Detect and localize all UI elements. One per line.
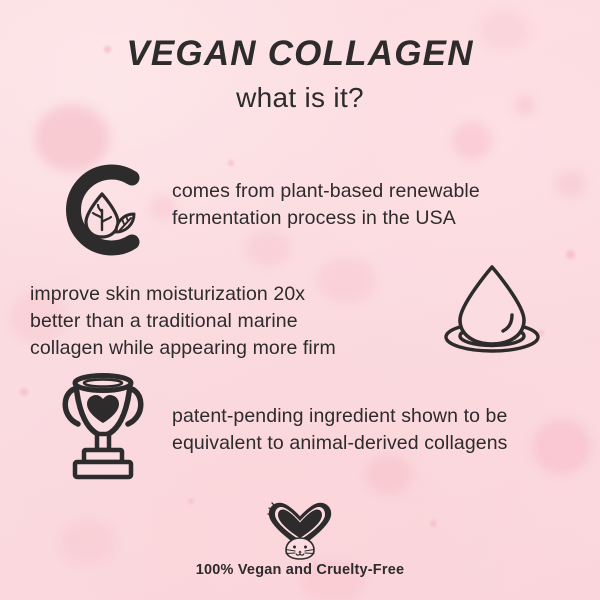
- feature-line: comes from plant-based renewable: [172, 178, 480, 205]
- water-droplet-ripple-icon: [440, 262, 544, 356]
- feature-row-1-text: comes from plant-based renewable ferment…: [172, 178, 480, 232]
- collagen-c-droplet-leaf-icon: [58, 162, 150, 258]
- feature-row-3-text: patent-pending ingredient shown to be eq…: [172, 403, 508, 457]
- trophy-heart-icon: [56, 372, 150, 484]
- page-title: VEGAN COLLAGEN: [0, 34, 600, 74]
- feature-line: collagen while appearing more firm: [30, 335, 336, 362]
- feature-line: improve skin moisturization 20x: [30, 281, 336, 308]
- cruelty-free-bunny-heart-icon: [262, 502, 338, 560]
- feature-line: fermentation process in the USA: [172, 205, 480, 232]
- infographic-canvas: VEGAN COLLAGEN what is it? comes from pl…: [0, 0, 600, 600]
- feature-line: better than a traditional marine: [30, 308, 336, 335]
- feature-line: equivalent to animal-derived collagens: [172, 430, 508, 457]
- feature-row-2-text: improve skin moisturization 20x better t…: [30, 281, 336, 362]
- feature-line: patent-pending ingredient shown to be: [172, 403, 508, 430]
- cruelty-free-label: 100% Vegan and Cruelty-Free: [0, 562, 600, 578]
- page-subtitle: what is it?: [0, 82, 600, 114]
